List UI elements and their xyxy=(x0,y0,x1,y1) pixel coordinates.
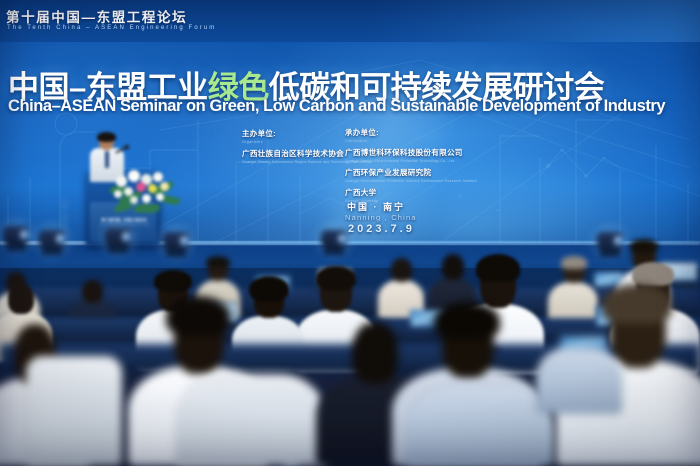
chair-with-cover xyxy=(176,374,328,466)
contractor-name-chinese: 广西大学 xyxy=(345,187,477,198)
chair-with-cover xyxy=(536,348,622,414)
contractors-heading-english: Contractors xyxy=(345,139,477,143)
location-chinese: 中国 · 南宁 xyxy=(347,200,405,213)
contractors-block: 承办单位: Contractors 广西博世科环保科技股份有限公司 Guangx… xyxy=(345,127,477,203)
contractor-name-chinese: 广西博世科环保科技股份有限公司 xyxy=(345,147,477,158)
contractors-heading-chinese: 承办单位: xyxy=(345,127,477,138)
forum-name-english: The Tenth China – ASEAN Engineering Foru… xyxy=(7,25,216,31)
chair-with-cover xyxy=(26,356,122,466)
speaker-hair xyxy=(97,132,116,142)
location-english: Nanning , China xyxy=(345,213,417,222)
forum-name-chinese: 第十届中国—东盟工程论坛 xyxy=(6,6,187,26)
event-date: 2023.7.9 xyxy=(348,223,415,235)
contractor-name-chinese: 广西环保产业发展研究院 xyxy=(345,167,477,178)
contractor-name-english: Guangxi Bossco Environmental Protection … xyxy=(345,159,477,163)
contractor-name-english: Guangxi Environmental Protection Industr… xyxy=(345,179,477,183)
chair-with-cover xyxy=(406,384,554,466)
conference-photo: 第十届中国—东盟工程论坛 The Tenth China – ASEAN Eng… xyxy=(0,0,700,466)
seminar-title-english: China–ASEAN Seminar on Green, Low Carbon… xyxy=(8,97,700,116)
flower-arrangement xyxy=(108,160,184,222)
